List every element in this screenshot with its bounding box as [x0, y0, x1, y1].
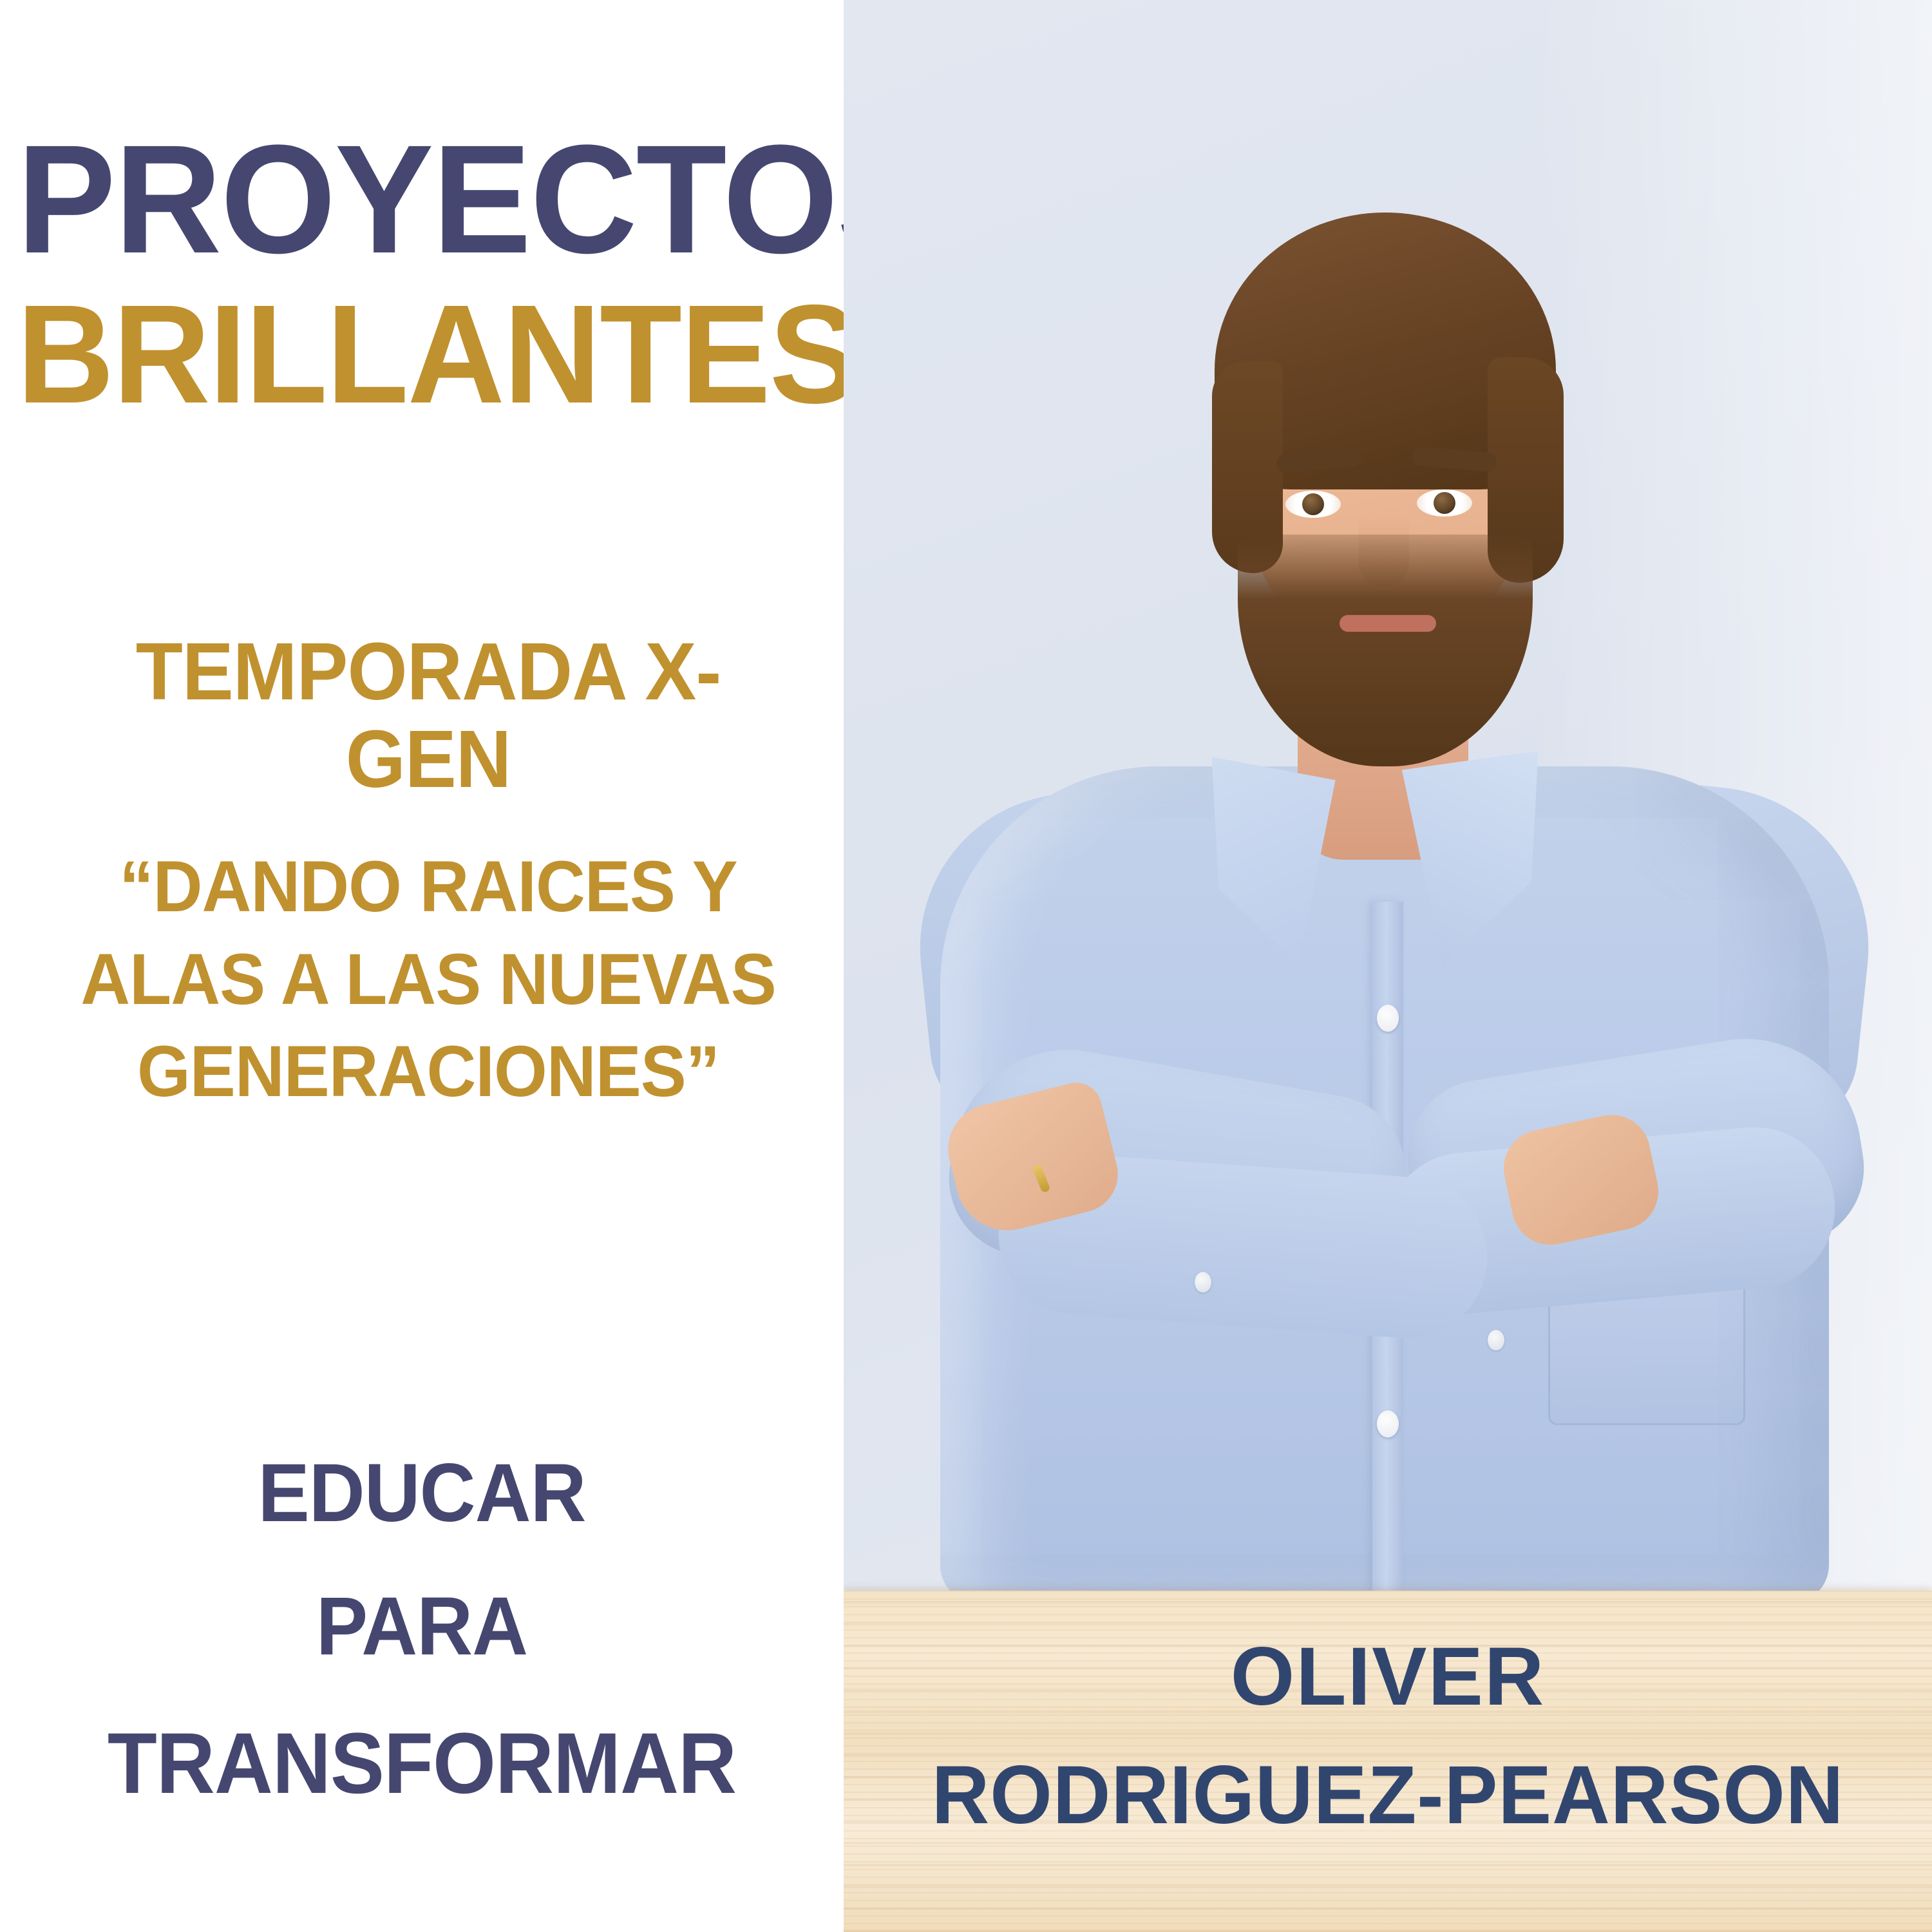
- podcast-cover-poster: PROYECTOS BRILLANTES TEMPORADA X- GEN “D…: [0, 0, 1932, 1932]
- hero-title-line-2: BRILLANTES: [17, 288, 827, 421]
- motto-line-2: PARA: [25, 1560, 818, 1693]
- season-quote-line-2: ALAS A LAS NUEVAS: [33, 933, 823, 1025]
- season-line-1: TEMPORADA X-: [33, 628, 823, 715]
- host-portrait-photo: OLIVER RODRIGUEZ-PEARSON: [844, 0, 1932, 1932]
- beard: [1238, 535, 1533, 766]
- season-quote-line-3: GENERACIONES”: [33, 1025, 823, 1117]
- pupil-left: [1302, 493, 1324, 515]
- motto-line-3: TRANSFORMAR: [25, 1694, 818, 1833]
- host-last-name: RODRIGUEZ-PEARSON: [860, 1754, 1915, 1837]
- hero-title-line-1: PROYECTOS: [17, 126, 827, 272]
- pupil-right: [1434, 492, 1455, 514]
- shirt-button: [1377, 1005, 1399, 1032]
- shirt-button: [1377, 1410, 1399, 1437]
- motto-block: EDUCAR PARA TRANSFORMAR: [0, 1426, 844, 1833]
- season-quote-line-1: “DANDO RAICES Y: [33, 840, 823, 933]
- mouth: [1340, 615, 1436, 632]
- cuff-button: [1195, 1272, 1211, 1293]
- host-name: OLIVER RODRIGUEZ-PEARSON: [844, 1636, 1932, 1837]
- season-block: TEMPORADA X- GEN “DANDO RAICES Y ALAS A …: [13, 628, 844, 1117]
- season-line-2: GEN: [33, 715, 823, 803]
- wooden-desk: OLIVER RODRIGUEZ-PEARSON: [844, 1591, 1932, 1932]
- hero-title: PROYECTOS BRILLANTES: [0, 126, 844, 421]
- host-first-name: OLIVER: [844, 1636, 1932, 1718]
- motto-line-1: EDUCAR: [25, 1426, 818, 1560]
- cuff-button: [1488, 1330, 1504, 1350]
- left-text-panel: PROYECTOS BRILLANTES TEMPORADA X- GEN “D…: [0, 0, 844, 1932]
